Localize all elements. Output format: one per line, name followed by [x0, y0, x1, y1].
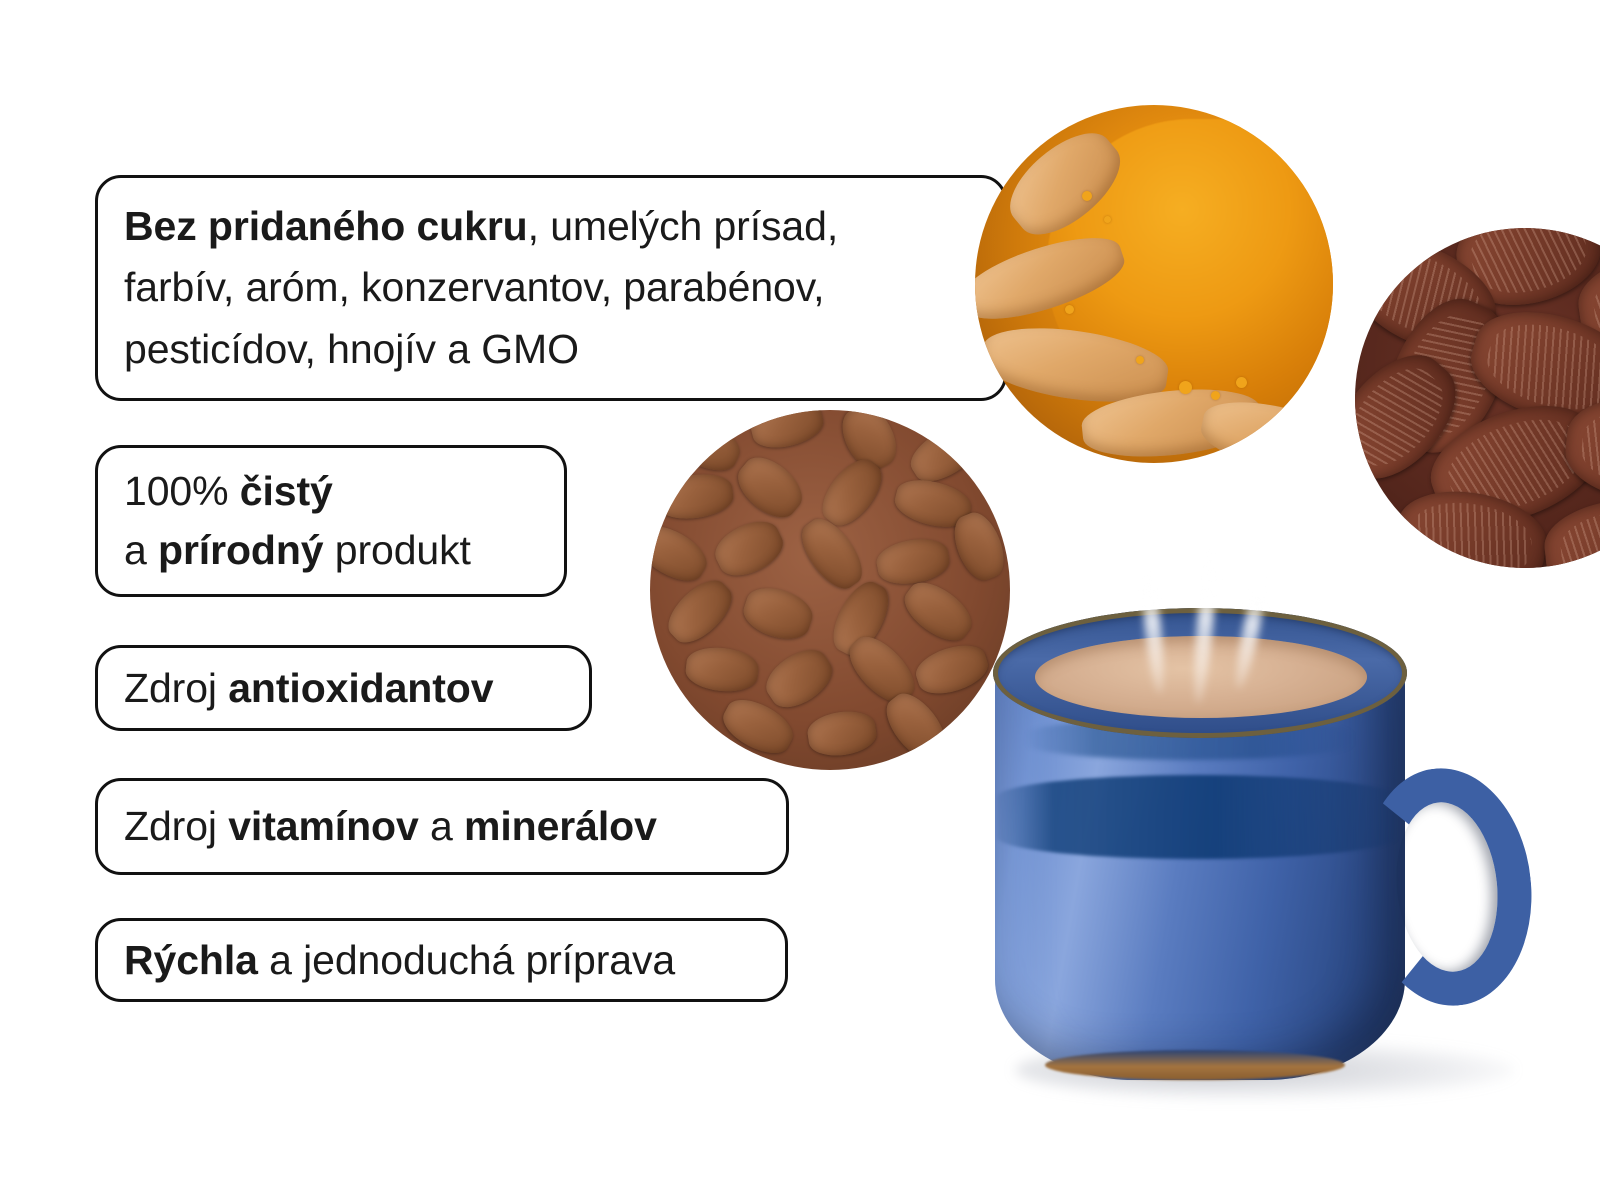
cocoa-beans-photo	[650, 410, 1010, 770]
cocoa-bean	[792, 511, 871, 598]
benefit-box-vitamins-minerals: Zdroj vitamínov a minerálov	[95, 778, 789, 875]
benefit-label: Zdroj antioxidantov	[98, 661, 519, 716]
turmeric-speck	[1065, 305, 1074, 314]
cocoa-bean	[659, 571, 741, 652]
turmeric-speck	[1136, 356, 1144, 364]
cocoa-bean	[758, 640, 841, 717]
cocoa-bean	[684, 644, 760, 694]
cocoa-bean	[896, 573, 980, 650]
benefit-label: Zdroj vitamínov a minerálov	[98, 799, 683, 854]
mug-glaze-band	[997, 775, 1397, 859]
cocoa-bean	[729, 447, 811, 527]
cocoa-bean	[708, 513, 790, 585]
benefit-box-quick-preparation: Rýchla a jednoduchá príprava	[95, 918, 788, 1002]
cocoa-bean	[874, 534, 952, 589]
mug-foot	[1045, 1050, 1345, 1080]
turmeric-speck	[1104, 216, 1111, 223]
cocoa-bean	[666, 412, 746, 479]
benefit-label: Rýchla a jednoduchá príprava	[98, 933, 701, 988]
cocoa-bean	[747, 410, 827, 454]
turmeric-speck	[1179, 381, 1192, 394]
benefit-box-antioxidants: Zdroj antioxidantov	[95, 645, 592, 731]
infographic-canvas: Bez pridaného cukru, umelých prísad, far…	[0, 0, 1600, 1200]
turmeric-powder-photo	[975, 105, 1333, 463]
benefit-box-no-added-sugar: Bez pridaného cukru, umelých prísad, far…	[95, 175, 1007, 401]
benefit-label: 100% čistý a prírodný produkt	[98, 462, 497, 581]
cocoa-bean	[655, 470, 736, 523]
cocoa-bean	[806, 708, 880, 760]
benefit-label: Bez pridaného cukru, umelých prísad, far…	[98, 196, 864, 381]
cocoa-bean	[650, 517, 714, 590]
blue-mug-photo	[985, 600, 1555, 1100]
benefit-box-pure-natural: 100% čistý a prírodný produkt	[95, 445, 567, 597]
dried-dates-photo	[1355, 228, 1600, 568]
cocoa-bean	[911, 638, 993, 701]
cocoa-bean	[738, 581, 818, 647]
